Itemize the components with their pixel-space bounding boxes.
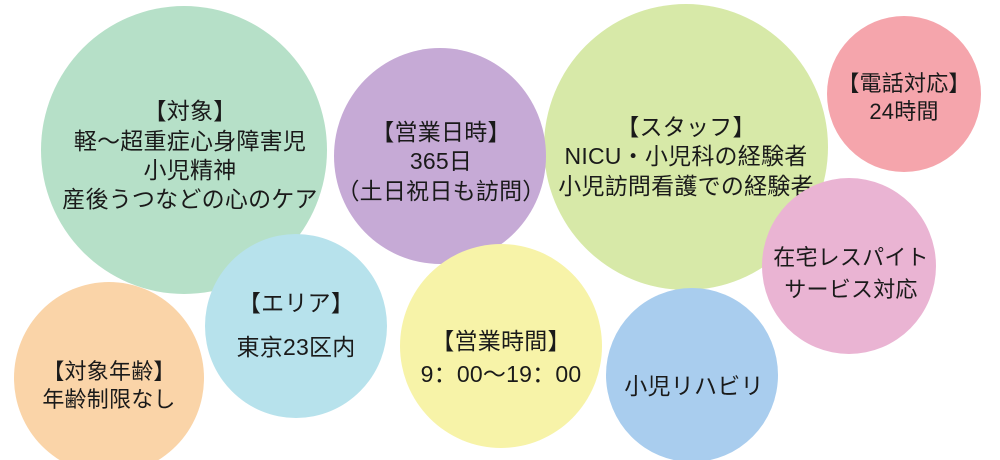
bubble-home-respite-service-text: 在宅レスパイト サービス対応 (773, 242, 929, 306)
bubble-home-respite-service: 在宅レスパイト サービス対応 (762, 178, 936, 354)
bubble-business-hours-text: 【営業時間】 9：00～19：00 (421, 325, 582, 392)
bubble-target-text: 【対象】 軽～超重症心身障害児 小児精神 産後うつなどの心のケア (62, 97, 318, 215)
bubble-pediatric-rehab: 小児リハビリ (606, 288, 778, 460)
bubble-business-hours: 【営業時間】 9：00～19：00 (400, 244, 602, 448)
bubble-infographic: 【対象】 軽～超重症心身障害児 小児精神 産後うつなどの心のケア 【営業日時】 … (0, 0, 1000, 460)
bubble-target-age-text: 【対象年齢】 年齢制限なし (42, 358, 175, 414)
bubble-target-age: 【対象年齢】 年齢制限なし (14, 282, 204, 460)
bubble-area: 【エリア】 東京23区内 (205, 234, 387, 418)
bubble-area-text: 【エリア】 東京23区内 (237, 282, 356, 369)
bubble-pediatric-rehab-text: 小児リハビリ (624, 372, 763, 401)
bubble-phone-support-text: 【電話対応】 24時間 (837, 70, 970, 126)
bubble-business-days: 【営業日時】 365日 （土日祝日も訪問） (334, 48, 546, 264)
bubble-phone-support: 【電話対応】 24時間 (827, 16, 981, 172)
bubble-business-days-text: 【営業日時】 365日 （土日祝日も訪問） (336, 118, 545, 206)
bubble-staff-text: 【スタッフ】 NICU・小児科の経験者 小児訪問看護での経験者 (558, 113, 814, 201)
